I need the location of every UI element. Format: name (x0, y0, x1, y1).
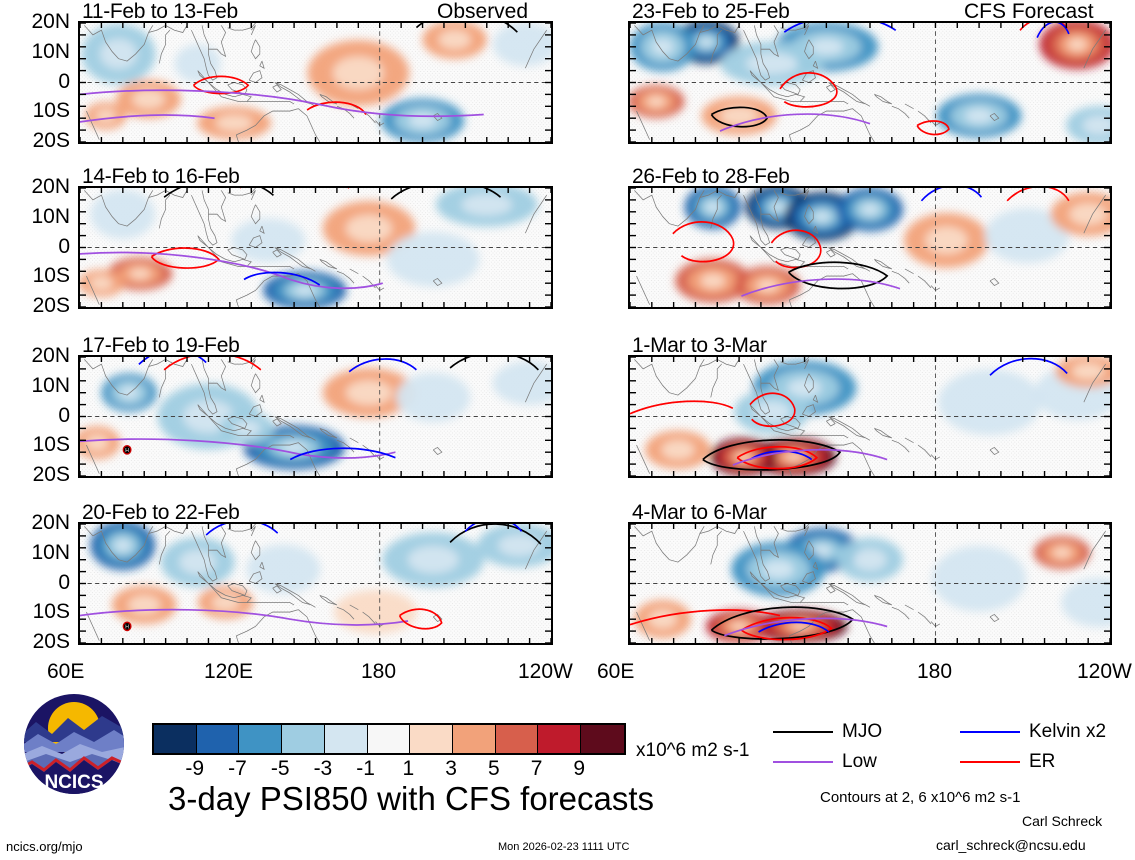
panel-title: 26-Feb to 28-Feb (632, 166, 789, 187)
y-tick-label: 0 (0, 572, 70, 593)
x-tick-label: 120W (518, 661, 573, 682)
author-email: carl_schreck@ncsu.edu (936, 838, 1086, 852)
y-tick-label: 10N (0, 206, 70, 227)
author-name: Carl Schreck (1022, 814, 1102, 828)
colorbar-swatch (154, 725, 197, 753)
colorbar-swatch (581, 725, 624, 753)
panel-title: 11-Feb to 13-Feb (82, 1, 238, 22)
colorbar-tick-label: -3 (301, 758, 345, 779)
colorbar-units-label: x10^6 m2 s-1 (636, 741, 749, 760)
svg-text:H: H (125, 624, 129, 630)
colorbar-tick-label: -7 (215, 758, 259, 779)
colorbar-tick-label: 5 (472, 758, 516, 779)
tropical-cyclone-marker: H (123, 446, 131, 454)
y-tick-label: 20S (0, 130, 70, 151)
colorbar-tick-label: -5 (258, 758, 302, 779)
y-tick-label: 20S (0, 631, 70, 652)
map-canvas (628, 522, 1112, 645)
colorbar-tick-label: -9 (173, 758, 217, 779)
map-canvas (628, 21, 1112, 144)
legend-label: Kelvin x2 (1029, 722, 1106, 741)
panel-title: 23-Feb to 25-Feb (632, 1, 789, 22)
legend-item-er: ER (960, 752, 1055, 771)
column-header-observed: Observed (437, 1, 528, 22)
y-tick-label: 20N (0, 345, 70, 366)
y-tick-label: 10N (0, 375, 70, 396)
legend-item-low: Low (773, 752, 877, 771)
colorbar-swatch (197, 725, 240, 753)
colorbar-swatch (496, 725, 539, 753)
x-tick-label: 60E (47, 661, 84, 682)
y-tick-label: 20N (0, 176, 70, 197)
map-canvas (78, 21, 553, 144)
y-tick-label: 10S (0, 100, 70, 121)
y-tick-label: 10S (0, 601, 70, 622)
legend-label: Low (842, 752, 877, 771)
x-tick-label: 60E (597, 661, 634, 682)
y-tick-label: 0 (0, 71, 70, 92)
y-tick-label: 0 (0, 236, 70, 257)
generation-timestamp: Mon 2026-02-23 1111 UTC (498, 842, 629, 853)
contour-interval-note: Contours at 2, 6 x10^6 m2 s-1 (820, 790, 1020, 805)
x-tick-label: 180 (361, 661, 396, 682)
colorbar-tick-label: 7 (515, 758, 559, 779)
panel-title: 1-Mar to 3-Mar (632, 335, 767, 356)
page-title: 3-day PSI850 with CFS forecasts (168, 782, 654, 815)
panel-title: 14-Feb to 16-Feb (82, 166, 239, 187)
x-tick-label: 120E (204, 661, 253, 682)
panel-title: 17-Feb to 19-Feb (82, 335, 239, 356)
column-header-cfs-forecast: CFS Forecast (964, 1, 1094, 22)
colorbar-tick-label: -1 (344, 758, 388, 779)
map-canvas: H (78, 522, 553, 645)
y-tick-label: 0 (0, 405, 70, 426)
x-tick-label: 120W (1077, 661, 1132, 682)
colorbar-swatch (325, 725, 368, 753)
colorbar-swatch (453, 725, 496, 753)
colorbar-swatch (368, 725, 411, 753)
logo-text: NCICS (44, 772, 103, 793)
colorbar-swatch (239, 725, 282, 753)
map-canvas (628, 186, 1112, 309)
panel-title: 20-Feb to 22-Feb (82, 502, 239, 523)
legend-line-swatch (773, 761, 833, 763)
colorbar-swatch (538, 725, 581, 753)
legend-line-swatch (773, 731, 833, 733)
x-tick-label: 180 (917, 661, 952, 682)
colorbar-swatch (410, 725, 453, 753)
y-tick-label: 10N (0, 41, 70, 62)
legend-item-mjo: MJO (773, 722, 882, 741)
y-tick-label: 20N (0, 11, 70, 32)
ncics-logo: NCICS (22, 692, 126, 801)
colorbar-tick-label: 9 (557, 758, 601, 779)
site-url-link[interactable]: ncics.org/mjo (6, 840, 83, 853)
legend-item-kelvin-x2: Kelvin x2 (960, 722, 1106, 741)
map-canvas (78, 186, 553, 309)
panel-title: 4-Mar to 6-Mar (632, 502, 767, 523)
legend-label: MJO (842, 722, 882, 741)
legend-line-swatch (960, 731, 1020, 733)
colorbar-swatch (282, 725, 325, 753)
x-tick-label: 120E (757, 661, 806, 682)
y-tick-label: 20S (0, 295, 70, 316)
legend-line-swatch (960, 761, 1020, 763)
map-canvas (628, 355, 1112, 478)
colorbar (152, 723, 626, 755)
y-tick-label: 10S (0, 265, 70, 286)
colorbar-tick-label: 1 (386, 758, 430, 779)
y-tick-label: 20N (0, 512, 70, 533)
y-tick-label: 10S (0, 434, 70, 455)
map-canvas: H (78, 355, 553, 478)
tropical-cyclone-marker: H (123, 622, 131, 630)
legend-label: ER (1029, 752, 1055, 771)
y-tick-label: 10N (0, 542, 70, 563)
svg-text:H: H (125, 448, 129, 454)
y-tick-label: 20S (0, 464, 70, 485)
colorbar-tick-label: 3 (429, 758, 473, 779)
